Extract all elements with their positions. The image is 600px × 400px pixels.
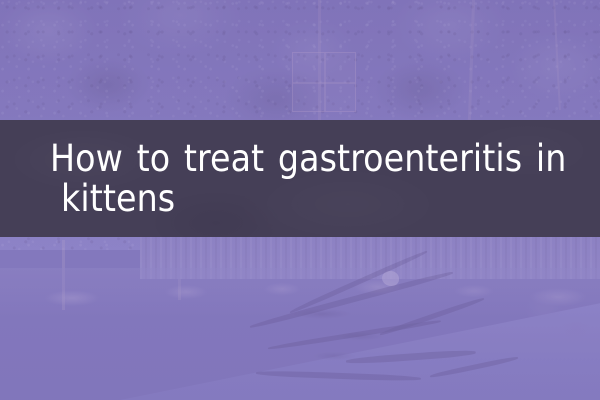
shadow-branch [429,355,518,379]
page-title-line-2: kittens [50,179,175,219]
title-card: How to treat gastroenteritis inkittens [0,0,600,400]
page-title-line-1: How to treat gastroenteritis in [50,137,566,180]
page-title: How to treat gastroenteritis inkittens [0,139,566,219]
title-band: How to treat gastroenteritis inkittens [0,120,600,237]
shadow-branch [256,370,421,382]
window-structure [292,52,356,112]
tree-shadows-secondary [286,300,406,370]
